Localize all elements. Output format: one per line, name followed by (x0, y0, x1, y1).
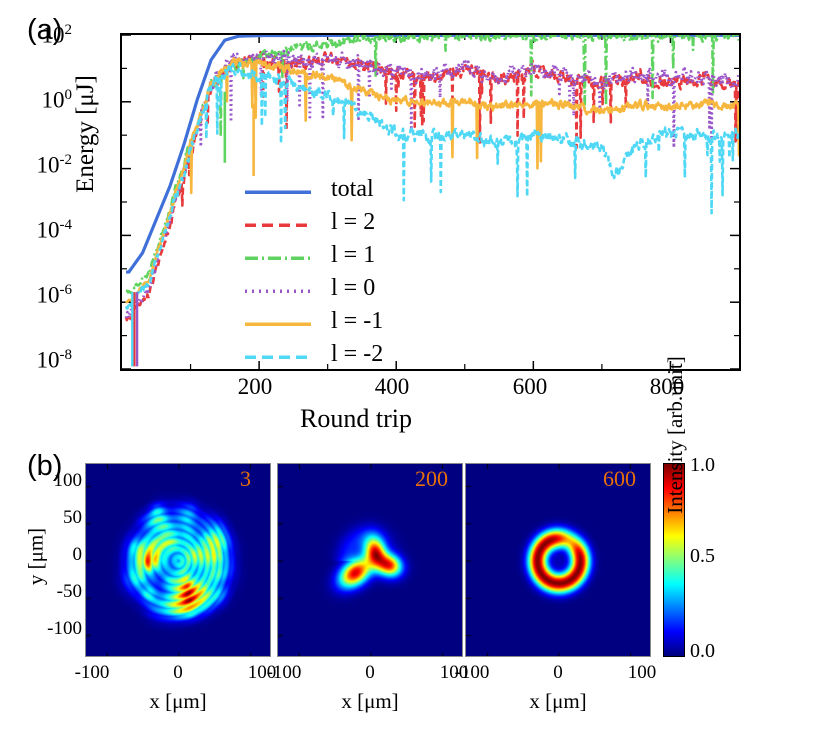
legend-swatch-l1 (245, 256, 311, 260)
intensity-map-3-annotation: 600 (603, 466, 636, 492)
panel-b-x-tick-1a: -100 (57, 662, 127, 684)
figure-root: (a) Energy [μJ] 102 100 10-2 10-4 10-6 1… (0, 0, 819, 739)
panel-a-y-axis-label: Energy [μJ] (72, 44, 100, 224)
panel-b-y-tick-2: 50 (0, 507, 82, 529)
panel-a-x-axis-label: Round trip (300, 404, 412, 434)
legend-swatch-l0 (245, 289, 311, 293)
intensity-canvas-2 (278, 464, 463, 657)
panel-b-x-tick-2b: 0 (335, 662, 405, 684)
legend-label-l1: l = 1 (331, 242, 375, 269)
intensity-map-2 (277, 463, 463, 657)
panel-a: (a) Energy [μJ] 102 100 10-2 10-4 10-6 1… (0, 0, 819, 440)
legend-label-lm2: l = -2 (331, 341, 383, 368)
intensity-map-3 (465, 463, 651, 657)
panel-b-y-tick-5: -100 (0, 618, 82, 640)
panel-b-x-tick-1b: 0 (143, 662, 213, 684)
colorbar-tick-min: 0.0 (690, 640, 715, 663)
y-tick-2: 100 (42, 87, 73, 114)
panel-b-x-axis-label-3: x [μm] (465, 689, 651, 714)
intensity-map-1-annotation: 3 (240, 466, 251, 492)
panel-b-y-tick-1: 100 (0, 470, 82, 492)
panel-b-y-tick-3: 0 (0, 544, 82, 566)
colorbar-tick-max: 1.0 (690, 454, 715, 477)
legend-label-total: total (331, 176, 374, 203)
legend-swatch-l2 (245, 223, 311, 227)
panel-b-x-axis-label-2: x [μm] (277, 689, 463, 714)
legend-swatch-lm1 (245, 322, 311, 326)
y-tick-3: 10-2 (37, 152, 73, 179)
x-tick-2: 400 (352, 374, 432, 400)
legend-swatch-lm2 (245, 355, 311, 359)
intensity-canvas-3 (466, 464, 651, 657)
panel-b-x-tick-2a: -100 (249, 662, 319, 684)
legend-label-l0: l = 0 (331, 275, 375, 302)
y-tick-1: 102 (42, 22, 73, 49)
x-tick-3: 600 (490, 374, 570, 400)
x-tick-1: 200 (215, 374, 295, 400)
colorbar-tick-mid: 0.5 (690, 545, 715, 568)
panel-b: (b) y [μm] 100 50 0 -50 -100 3 x [μm] -1… (0, 440, 819, 739)
panel-b-x-tick-3b: 0 (523, 662, 593, 684)
panel-a-plot-area (120, 33, 741, 371)
panel-b-y-tick-4: -50 (0, 581, 82, 603)
intensity-map-1 (85, 463, 271, 657)
legend-label-lm1: l = -1 (331, 308, 383, 335)
intensity-canvas-1 (86, 464, 271, 657)
legend-label-l2: l = 2 (331, 209, 375, 236)
y-tick-5: 10-6 (37, 282, 73, 309)
y-tick-4: 10-4 (37, 217, 73, 244)
panel-b-x-axis-label-1: x [μm] (85, 689, 271, 714)
panel-a-curves (122, 35, 739, 369)
intensity-map-2-annotation: 200 (415, 466, 448, 492)
colorbar-label: Intensity [arb.unit] (663, 325, 688, 545)
legend-swatch-total (245, 190, 311, 194)
panel-b-x-tick-3c: 100 (607, 662, 677, 684)
y-tick-6: 10-8 (37, 347, 73, 374)
panel-b-x-tick-3a: -100 (437, 662, 507, 684)
